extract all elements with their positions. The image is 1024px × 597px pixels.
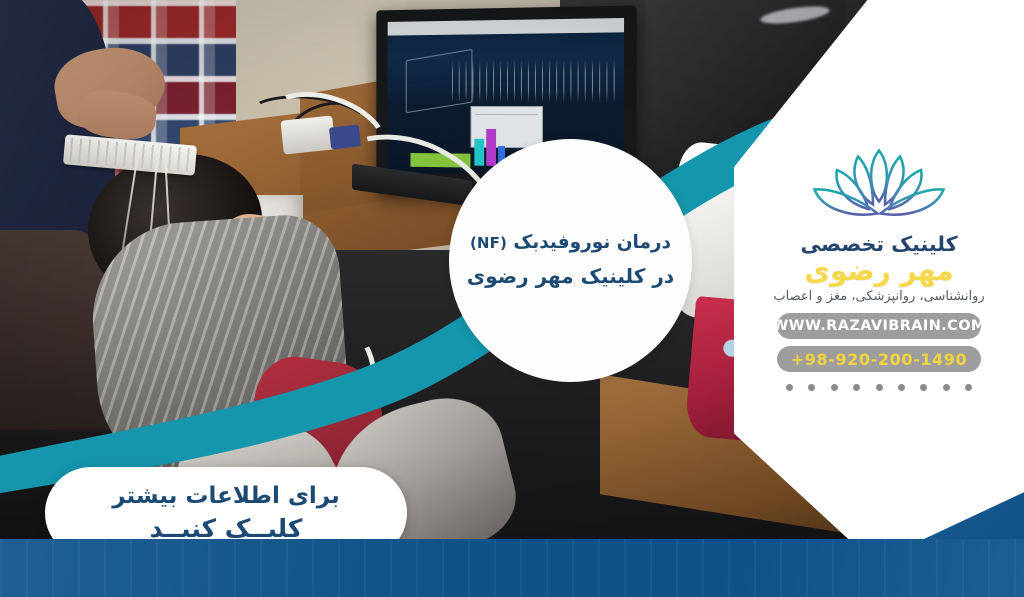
bottom-blue-band [0,539,1024,597]
dot-separator [786,384,972,391]
brand-specialties: روانشناسی، روانپزشکی، مغز و اعصاب [773,289,984,304]
headline-circle-badge: درمان نوروفیدبک (NF) در کلینیک مهر رضوی [449,139,692,382]
phone-text: +98-920-200-1490 [791,350,968,369]
phone-pill[interactable]: +98-920-200-1490 [777,346,981,372]
clinic-logo-content: کلینیک تخصصی مهر رضوی روانشناسی، روانپزش… [734,0,1024,597]
headline-line2: در کلینیک مهر رضوی [467,261,674,292]
website-text: WWW.RAZAVIBRAIN.COM [772,318,986,334]
neurofeedback-promo-banner: درمان نوروفیدبک (NF) در کلینیک مهر رضوی … [0,0,1024,597]
website-pill[interactable]: WWW.RAZAVIBRAIN.COM [777,313,981,339]
neurofeedback-abbr: (NF) [470,234,507,252]
brand-name: مهر رضوی [804,254,953,287]
brand-subtitle: کلینیک تخصصی [800,232,957,256]
cta-line1: برای اطلاعات بیشتر [112,482,340,511]
lotus-flower-icon [804,146,954,224]
headline-line1: درمان نوروفیدبک [513,232,671,253]
